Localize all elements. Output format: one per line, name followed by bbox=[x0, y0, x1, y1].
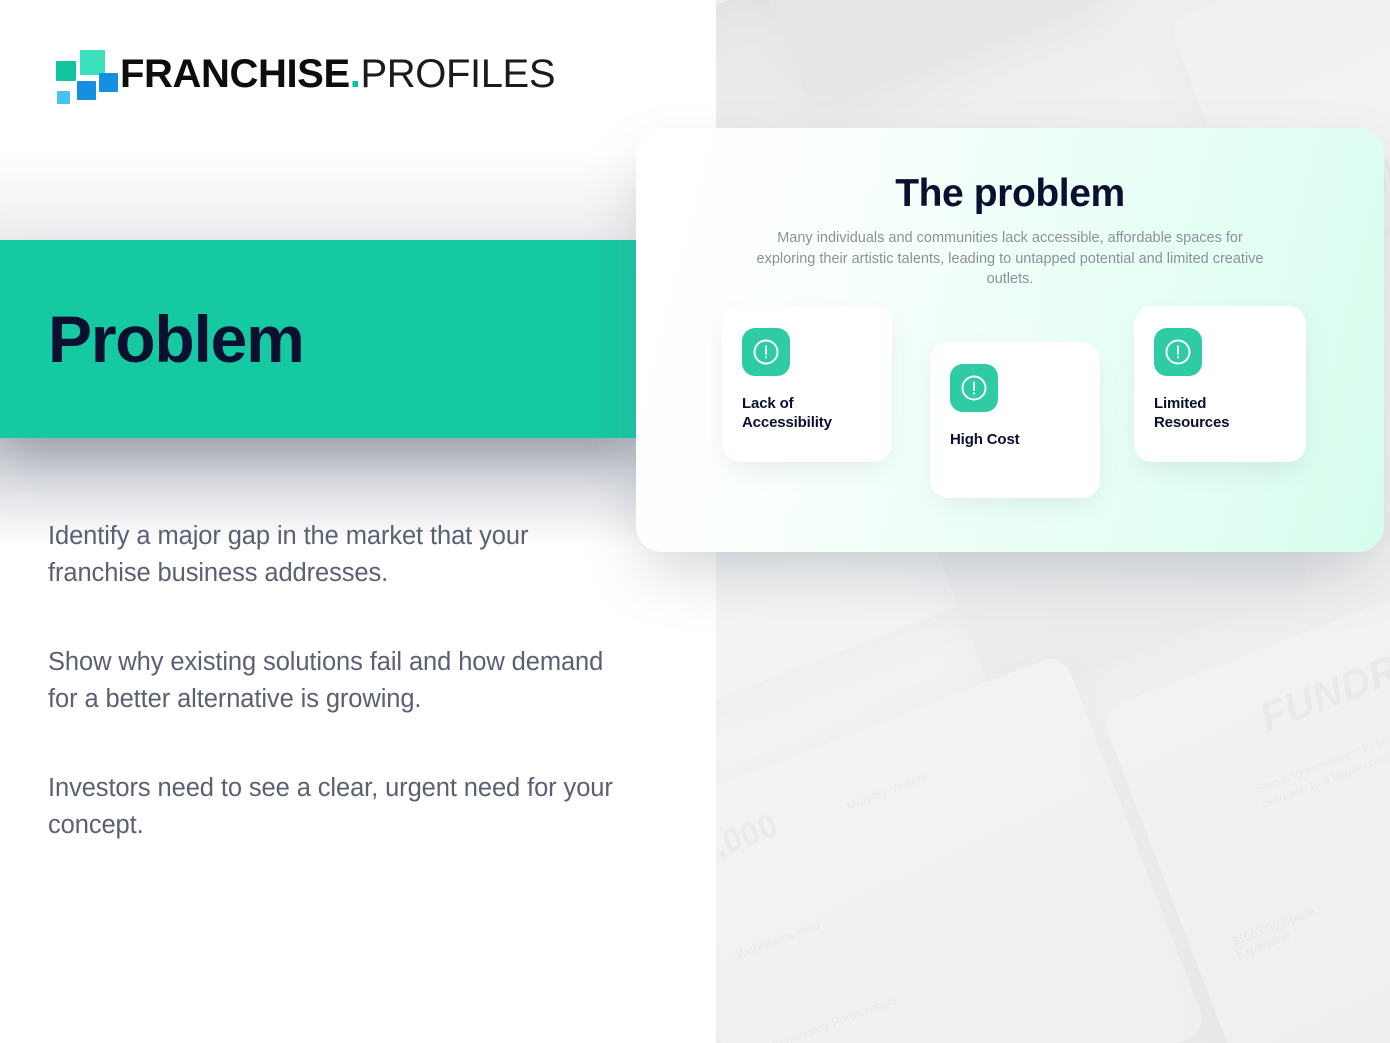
preview-title: The problem bbox=[636, 174, 1384, 213]
brand-name-bold: FRANCHISE bbox=[120, 52, 350, 96]
preview-subtitle: Many individuals and communities lack ac… bbox=[755, 228, 1265, 290]
left-content-panel: FRANCHISE.PROFILES Problem Identify a ma… bbox=[0, 0, 716, 1043]
problem-card[interactable]: Lack of Accessibility bbox=[722, 306, 892, 462]
brand-wordmark: FRANCHISE.PROFILES bbox=[120, 54, 555, 94]
guidance-paragraph: Show why existing solutions fail and how… bbox=[48, 644, 618, 718]
problem-card[interactable]: High Cost bbox=[930, 342, 1100, 498]
brand-logo[interactable]: FRANCHISE.PROFILES bbox=[48, 44, 555, 104]
section-title-banner: Problem bbox=[0, 240, 636, 438]
problem-card-label: Lack of Accessibility bbox=[742, 394, 872, 432]
guidance-copy: Identify a major gap in the market that … bbox=[48, 518, 618, 844]
page-title: Problem bbox=[48, 306, 304, 372]
alert-circle-icon bbox=[742, 328, 790, 376]
problem-card-label: Limited Resources bbox=[1154, 394, 1286, 432]
alert-circle-icon bbox=[1154, 328, 1202, 376]
alert-circle-icon bbox=[950, 364, 998, 412]
brand-name-light: PROFILES bbox=[360, 52, 555, 96]
brand-name-dot: . bbox=[350, 52, 361, 96]
slide-canvas: Drop-In Fees Session Workshops Commissio… bbox=[0, 0, 1390, 1043]
slide-preview-card[interactable]: The problem Many individuals and communi… bbox=[636, 128, 1384, 552]
guidance-paragraph: Investors need to see a clear, urgent ne… bbox=[48, 770, 618, 844]
problem-card[interactable]: Limited Resources bbox=[1134, 306, 1306, 462]
guidance-paragraph: Identify a major gap in the market that … bbox=[48, 518, 618, 592]
problem-card-label: High Cost bbox=[950, 430, 1080, 449]
problem-card-group: Lack of Accessibility High Cost bbox=[636, 306, 1384, 526]
five-squares-logo-mark bbox=[48, 47, 102, 101]
banner-top-shadow bbox=[0, 150, 660, 242]
